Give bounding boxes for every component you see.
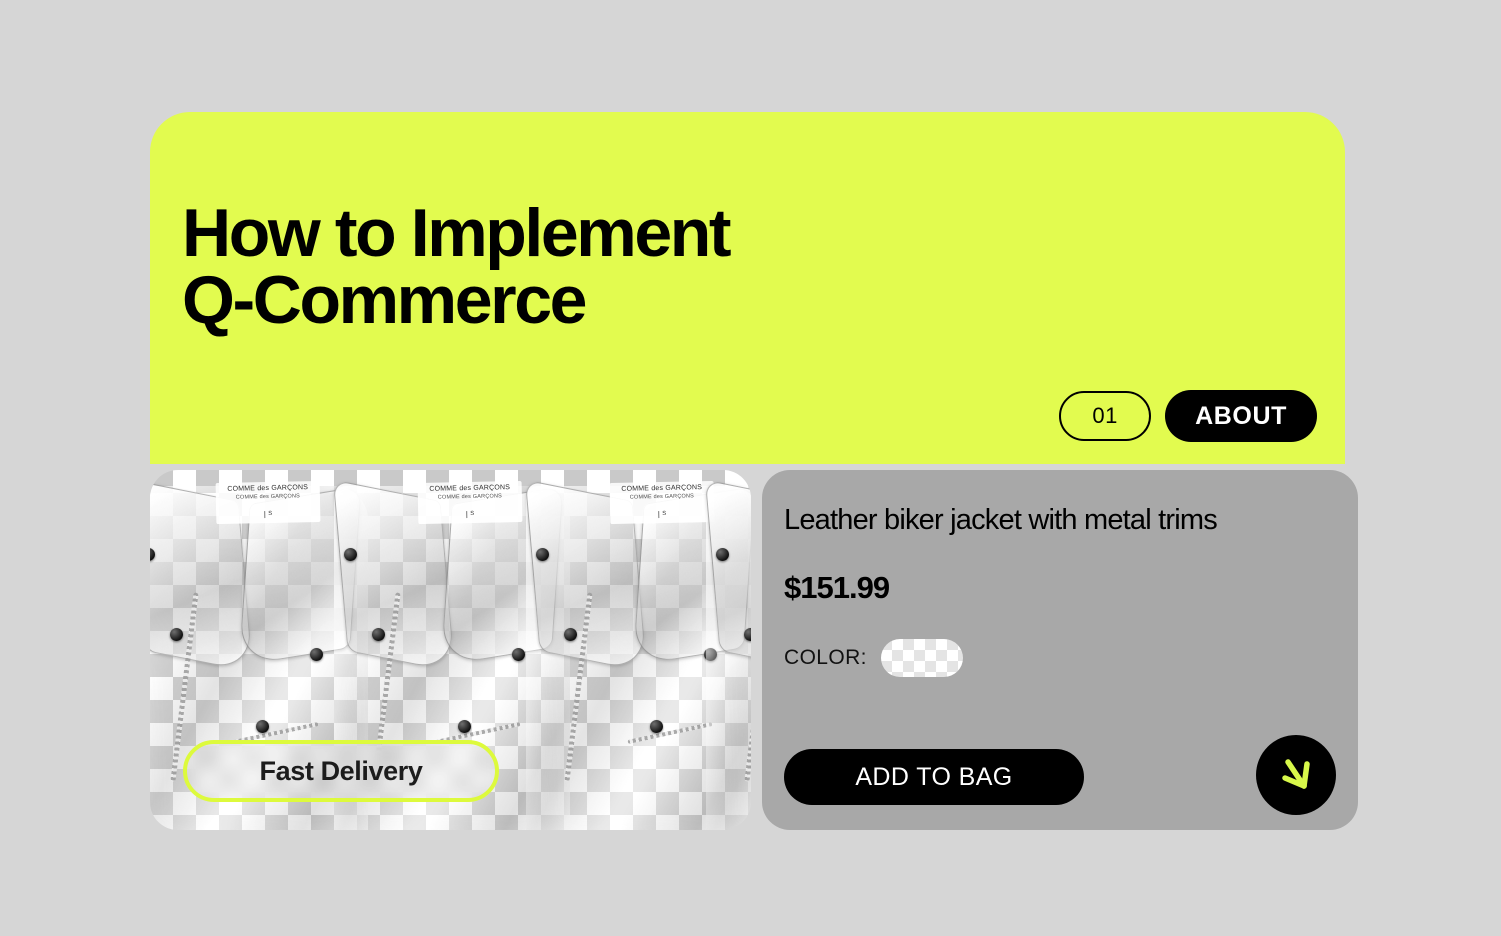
garment-stud — [744, 628, 751, 641]
product-image-card[interactable]: COMME des GARÇONS COMME des GARÇONS S — [150, 470, 751, 830]
about-button[interactable]: ABOUT — [1165, 390, 1317, 442]
arrow-down-right-icon — [1274, 753, 1318, 797]
garment-stud — [170, 628, 183, 641]
garment-stud — [372, 628, 385, 641]
garment-stud — [716, 548, 729, 561]
garment-brand-label: COMME des GARÇONS COMME des GARÇONS S — [216, 481, 321, 524]
next-arrow-button[interactable] — [1256, 735, 1336, 815]
garment-item — [698, 470, 751, 830]
hero-card: How to Implement Q-Commerce 01 ABOUT — [150, 112, 1345, 464]
garment-stud — [564, 628, 577, 641]
garment-stud — [536, 548, 549, 561]
brand-label-size: S — [264, 511, 272, 519]
page-stage: How to Implement Q-Commerce 01 ABOUT — [0, 0, 1501, 936]
garment-stud — [310, 648, 323, 661]
brand-label-size: S — [658, 511, 666, 519]
fast-delivery-label: Fast Delivery — [260, 756, 423, 787]
color-label: COLOR: — [784, 646, 867, 670]
garment-stud — [458, 720, 471, 733]
brand-label-size: S — [466, 511, 474, 519]
product-name: Leather biker jacket with metal trims — [784, 504, 1358, 537]
garment-stud — [650, 720, 663, 733]
slide-index-label: 01 — [1092, 403, 1117, 429]
fast-delivery-badge[interactable]: Fast Delivery — [183, 740, 499, 802]
page-title: How to Implement Q-Commerce — [182, 200, 729, 333]
add-to-bag-label: ADD TO BAG — [855, 763, 1012, 791]
product-section: COMME des GARÇONS COMME des GARÇONS S — [150, 470, 1358, 830]
detail-footer: ADD TO BAG — [784, 749, 1336, 805]
color-swatch-transparent[interactable] — [881, 639, 963, 677]
slide-index-badge[interactable]: 01 — [1059, 391, 1151, 441]
garment-brand-label: COMME des GARÇONS COMME des GARÇONS S — [418, 481, 523, 524]
hero-actions: 01 ABOUT — [1059, 390, 1317, 442]
add-to-bag-button[interactable]: ADD TO BAG — [784, 749, 1084, 805]
garment-stud — [256, 720, 269, 733]
product-price: $151.99 — [784, 570, 1358, 606]
product-detail-card: Leather biker jacket with metal trims $1… — [762, 470, 1358, 830]
about-button-label: ABOUT — [1195, 402, 1287, 431]
color-selector: COLOR: — [784, 639, 1358, 677]
garment-stud — [344, 548, 357, 561]
